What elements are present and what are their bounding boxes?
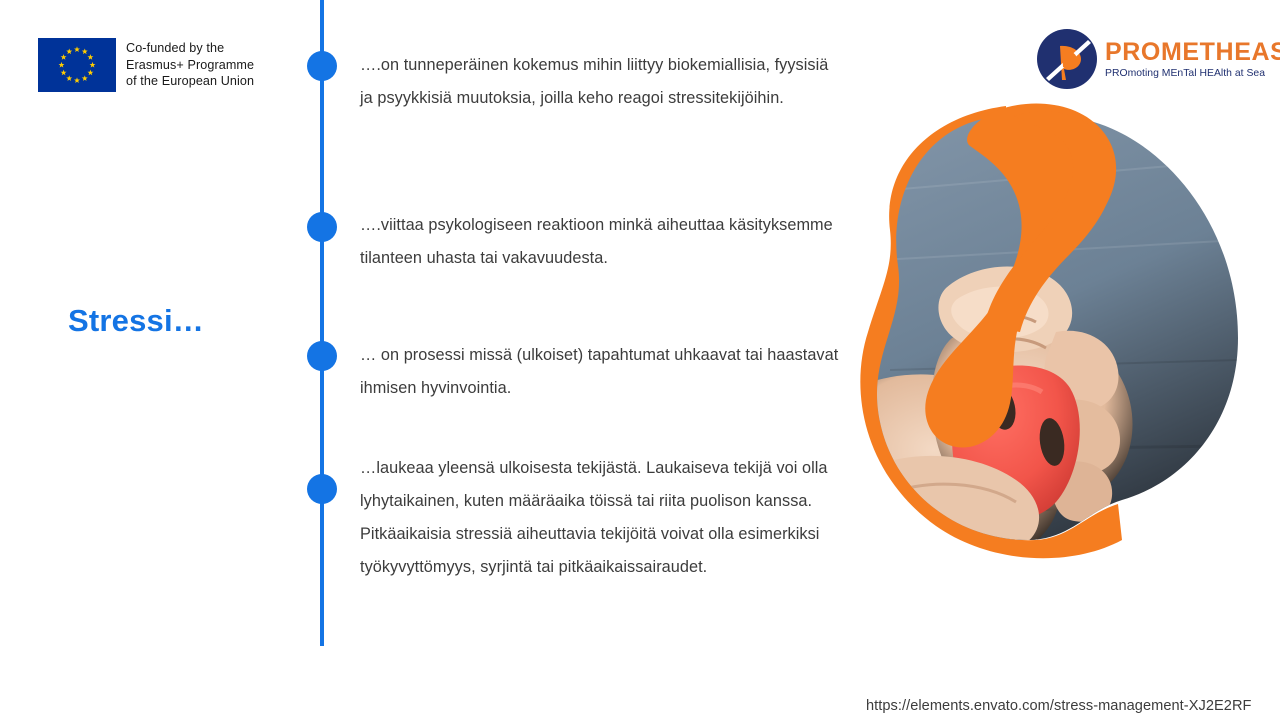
- source-url-caption: https://elements.envato.com/stress-manag…: [866, 698, 1252, 714]
- timeline-dot-3: [307, 341, 337, 371]
- timeline-dot-1: [307, 51, 337, 81]
- photo-blob-graphic: [770, 70, 1270, 610]
- timeline-text-2: ….viittaa psykologiseen reaktioon minkä …: [360, 209, 840, 275]
- timeline-dot-2: [307, 212, 337, 242]
- timeline-dot-4: [307, 474, 337, 504]
- timeline-axis: [320, 0, 324, 646]
- hand-squeezing-stress-ball-photo: [770, 70, 1270, 610]
- page-title: Stressi…: [68, 303, 204, 339]
- timeline-text-3: … on prosessi missä (ulkoiset) tapahtuma…: [360, 339, 840, 405]
- eu-erasmus-logo: Co-funded by the Erasmus+ Programme of t…: [38, 38, 254, 92]
- timeline-text-4: …laukeaa yleensä ulkoisesta tekijästä. L…: [360, 452, 840, 584]
- slide-canvas: Co-funded by the Erasmus+ Programme of t…: [0, 0, 1280, 720]
- eu-funding-text: Co-funded by the Erasmus+ Programme of t…: [126, 40, 254, 90]
- timeline-text-1: ….on tunneperäinen kokemus mihin liittyy…: [360, 49, 840, 115]
- prometheas-name: PROMETHEAS: [1105, 40, 1280, 65]
- eu-flag-icon: [38, 38, 116, 92]
